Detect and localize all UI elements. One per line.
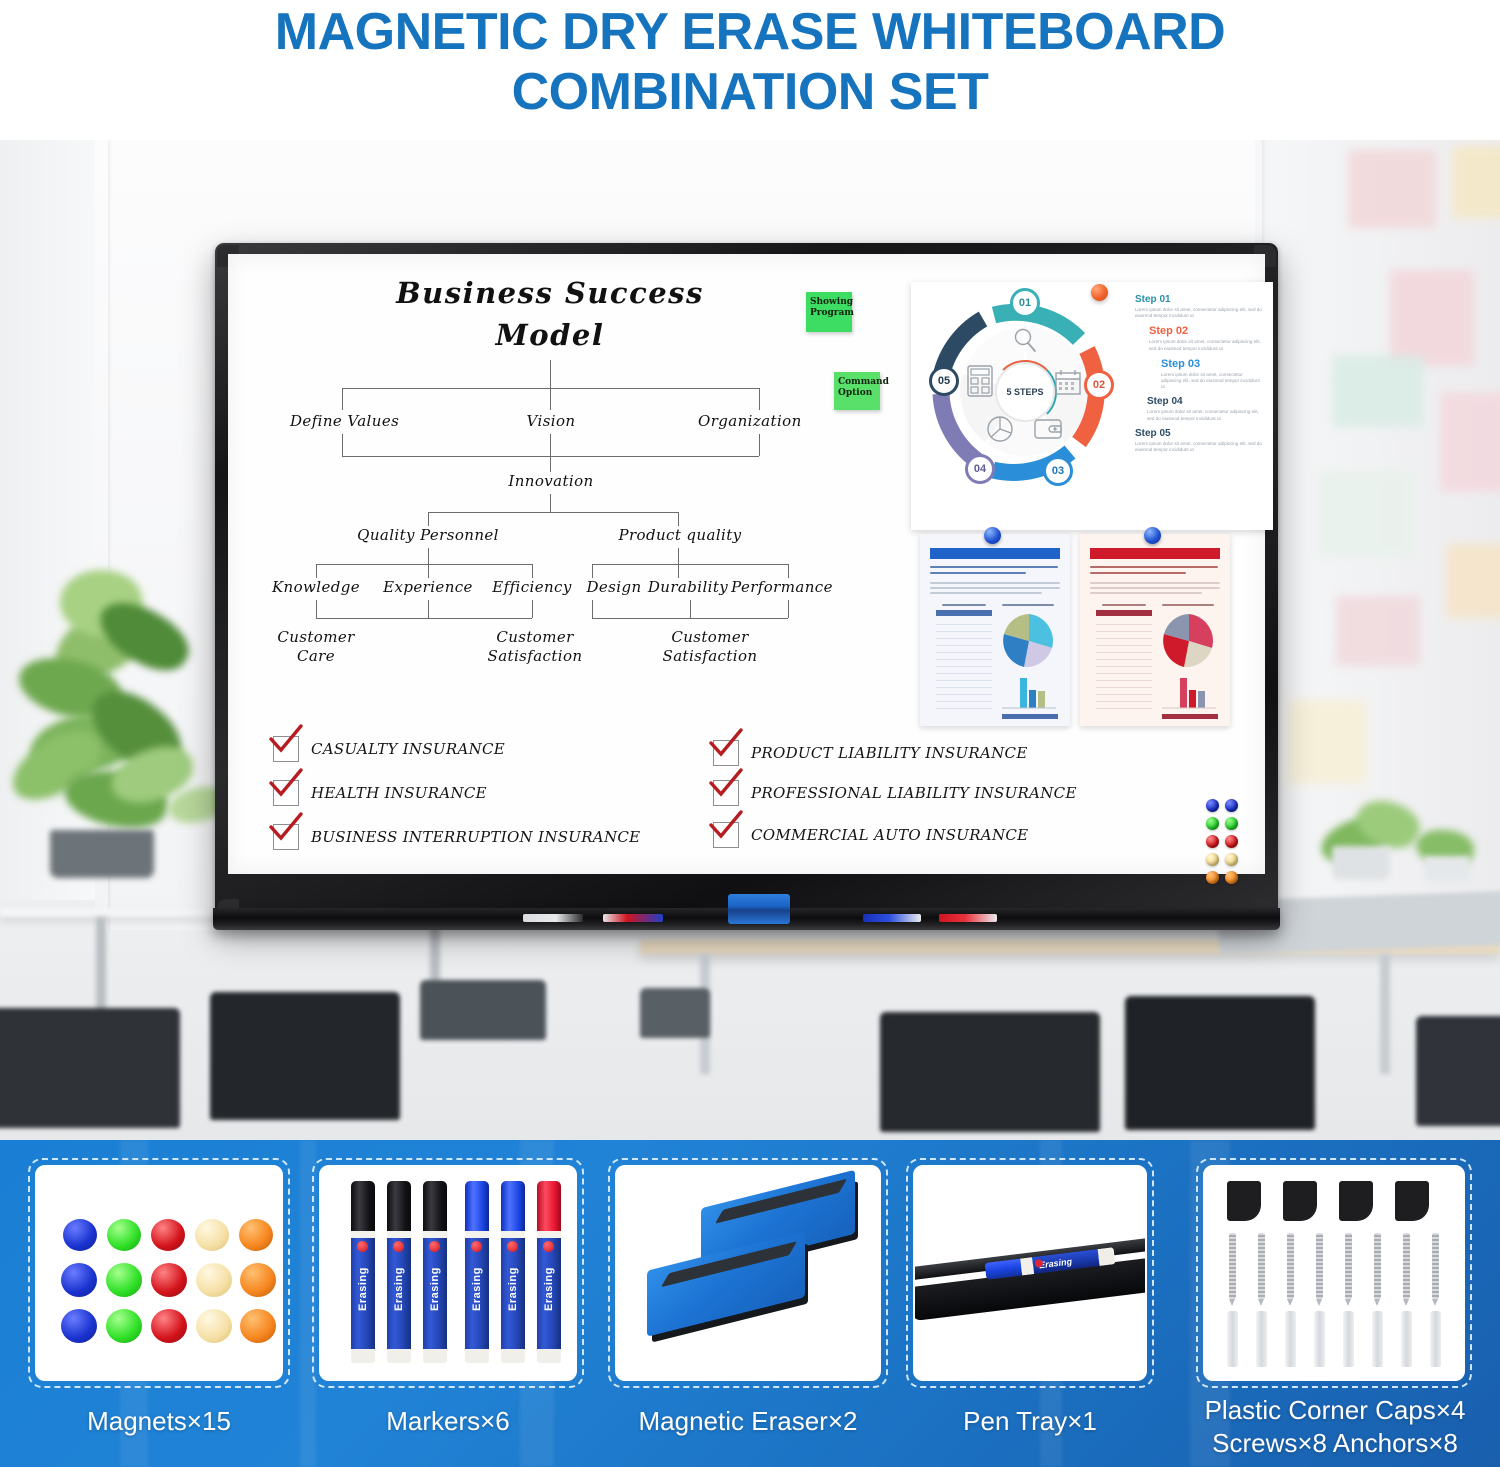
magnet-orange	[239, 1219, 273, 1251]
label-hardware-line2: Screws×8 Anchors×8	[1180, 1427, 1490, 1460]
pie-chart	[1000, 612, 1058, 670]
node-customer-care-line2: Care	[297, 647, 335, 665]
five-steps-infographic-poster[interactable]: 01 02 03 04 05 5 STEPS	[911, 282, 1273, 530]
node-efficiency: Efficiency	[492, 578, 571, 596]
marker-red: Erasing	[537, 1181, 561, 1363]
connector-line	[759, 388, 760, 410]
wall-anchor	[1227, 1311, 1238, 1367]
tray-marker[interactable]	[863, 914, 921, 922]
node-performance: Performance	[731, 578, 833, 596]
node-customer-care-line1: Customer	[277, 628, 354, 646]
insurance-checklist: CASUALTY INSURANCE HEALTH INSURANCE BUSI…	[273, 736, 1113, 866]
marker-brand-text: Erasing	[387, 1259, 411, 1319]
connector-line	[316, 564, 317, 578]
magnet-blue[interactable]	[1225, 799, 1238, 812]
step-bubble-04: 04	[965, 454, 995, 484]
step-heading: Step 04	[1147, 396, 1263, 407]
magnet-orange	[240, 1309, 276, 1343]
connector-line	[428, 564, 429, 578]
step-body: Lorem ipsum dolor sit amet, consectetur …	[1147, 409, 1263, 421]
step-body: Lorem ipsum dolor sit amet, consectetur …	[1135, 307, 1263, 319]
office-chair	[640, 988, 710, 1038]
marker-brand-text: Erasing	[501, 1259, 525, 1319]
wall-anchor	[1401, 1311, 1412, 1367]
plant-pot	[1424, 856, 1470, 882]
bar-chart	[1160, 676, 1218, 712]
title-line-1: MAGNETIC DRY ERASE WHITEBOARD	[275, 2, 1225, 62]
connector-line	[678, 512, 679, 526]
office-chair	[880, 1012, 1100, 1132]
node-durability: Durability	[648, 578, 728, 596]
wall-anchor	[1430, 1311, 1441, 1367]
accessory-card-hardware[interactable]	[1196, 1158, 1472, 1388]
checkbox	[713, 740, 739, 766]
screw	[1432, 1233, 1439, 1299]
magnets-image	[35, 1165, 283, 1381]
sticky-line-2: Option	[838, 388, 872, 398]
table-body	[1096, 618, 1152, 718]
wall-anchor	[1314, 1311, 1325, 1367]
step-body: Lorem ipsum dolor sit amet, consectetur …	[1149, 339, 1263, 351]
magnet-green[interactable]	[1206, 817, 1219, 830]
corner-cap	[1339, 1181, 1373, 1221]
connector-line	[342, 434, 343, 456]
sheet-text-line	[930, 592, 1042, 594]
node-vision: Vision	[527, 412, 576, 430]
checklist-item[interactable]: CASUALTY INSURANCE	[273, 736, 505, 762]
magnet-red	[151, 1309, 187, 1343]
marker-black: Erasing	[387, 1181, 411, 1363]
sticky-note-command-option[interactable]: Command Option	[834, 372, 880, 410]
report-sheet-red[interactable]	[1080, 534, 1230, 726]
node-define-values: Define Values	[290, 412, 399, 430]
marker-brand-text: Erasing	[465, 1259, 489, 1319]
wall-sticky-note	[1348, 150, 1436, 228]
sheet-text-line	[1090, 592, 1202, 594]
sheet-text-line	[1090, 587, 1220, 589]
magnet-green	[107, 1219, 141, 1251]
step-entry: Step 04 Lorem ipsum dolor sit amet, cons…	[1135, 396, 1263, 421]
sheet-text-line	[1090, 582, 1220, 584]
screw-tip	[1345, 1299, 1351, 1306]
eraser-image	[615, 1165, 881, 1381]
office-chair	[1416, 1016, 1500, 1126]
connector-line	[428, 600, 429, 618]
sheet-text-line	[930, 566, 1058, 568]
magnet-blue	[61, 1309, 97, 1343]
pen-tray-image: Erasing	[913, 1165, 1147, 1381]
screw-tip	[1403, 1299, 1409, 1306]
checklist-label: COMMERCIAL AUTO INSURANCE	[751, 826, 1028, 844]
step-bubble-01: 01	[1010, 288, 1040, 318]
connector-line	[788, 600, 789, 618]
screw	[1258, 1233, 1265, 1299]
corner-cap	[1283, 1181, 1317, 1221]
node-customer-satisfaction-line2: Satisfaction	[663, 647, 758, 665]
wall-sticky-note	[1288, 700, 1366, 784]
connector-line	[759, 434, 760, 456]
wall-anchor	[1256, 1311, 1267, 1367]
checklist-label: HEALTH INSURANCE	[311, 784, 487, 802]
node-customer-satisfaction-line2: Satisfaction	[488, 647, 583, 665]
footer-table	[1162, 714, 1218, 719]
connector-line	[678, 548, 679, 564]
magnet-blue	[61, 1263, 97, 1297]
office-chair	[420, 980, 546, 1040]
wall-sticky-note	[1318, 470, 1414, 558]
whiteboard-frame: Business Success Model Define Values Vis…	[215, 243, 1278, 923]
node-innovation: Innovation	[508, 472, 593, 490]
connector-line	[592, 564, 593, 578]
page-title: MAGNETIC DRY ERASE WHITEBOARD COMBINATIO…	[0, 0, 1500, 145]
screw	[1287, 1233, 1294, 1299]
tray-marker[interactable]	[603, 914, 663, 922]
chart-title	[1162, 604, 1214, 606]
checklist-item[interactable]: COMMERCIAL AUTO INSURANCE	[713, 822, 1028, 848]
check-icon	[708, 768, 744, 798]
magnet-red[interactable]	[1206, 835, 1219, 848]
connector-line	[342, 388, 343, 410]
plant-pot	[50, 830, 154, 878]
office-chair	[0, 1008, 180, 1128]
sheet-text-line	[930, 572, 1026, 574]
screw-tip	[1287, 1299, 1293, 1306]
diagram-title-line1: Business Success	[270, 276, 830, 310]
pin-magnet	[1144, 527, 1161, 544]
bar-chart	[1000, 676, 1058, 712]
screw-tip	[1432, 1299, 1438, 1306]
checkbox	[273, 780, 299, 806]
connector-line	[532, 600, 533, 618]
pin-magnet	[984, 527, 1001, 544]
label-magnets: Magnets×15	[28, 1406, 290, 1437]
magnet-yellow	[195, 1219, 229, 1251]
checklist-item[interactable]: HEALTH INSURANCE	[273, 780, 487, 806]
magnet-orange[interactable]	[1206, 871, 1219, 884]
wall-sticky-note	[1390, 270, 1474, 366]
label-hardware-line1: Plastic Corner Caps×4	[1180, 1394, 1490, 1427]
business-success-model-diagram: Business Success Model Define Values Vis…	[270, 276, 830, 696]
magnifier-icon	[1011, 326, 1039, 354]
sticky-line-1: Command	[838, 377, 889, 387]
step-bubble-05: 05	[929, 366, 959, 396]
checkbox	[713, 822, 739, 848]
hardware-image	[1203, 1165, 1465, 1381]
node-design: Design	[586, 578, 641, 596]
wallet-icon	[1033, 416, 1063, 442]
marker-blue: Erasing	[465, 1181, 489, 1363]
process-wheel: 01 02 03 04 05 5 STEPS	[927, 294, 1123, 490]
connector-line	[428, 512, 429, 526]
label-eraser: Magnetic Eraser×2	[608, 1406, 888, 1437]
marker-black: Erasing	[423, 1181, 447, 1363]
piechart-icon	[985, 414, 1015, 444]
connector-line	[550, 388, 551, 410]
plant-pot	[1332, 846, 1390, 880]
connector-line	[550, 494, 551, 512]
node-customer-satisfaction-line1: Customer	[496, 628, 573, 646]
report-sheet-blue[interactable]	[920, 534, 1070, 726]
wall-sticky-note	[1336, 596, 1420, 666]
footer-table	[1002, 714, 1058, 719]
whiteboard-pen-tray[interactable]	[213, 908, 1280, 930]
chart-title	[1002, 604, 1054, 606]
marker-black: Erasing	[351, 1181, 375, 1363]
sheet-header-bar	[930, 548, 1060, 559]
magnet-red	[151, 1219, 185, 1251]
accessory-card-markers[interactable]: Erasing Erasing Erasing	[312, 1158, 584, 1388]
marker-brand-text: Erasing	[537, 1259, 561, 1319]
step-entry: Step 02 Lorem ipsum dolor sit amet, cons…	[1135, 325, 1263, 351]
node-experience: Experience	[383, 578, 473, 596]
table-header-row	[936, 610, 992, 616]
marker-brand-text: Erasing	[423, 1259, 447, 1319]
diagram-title-line2: Model	[270, 318, 830, 352]
wall-sticky-note	[1452, 146, 1500, 218]
connector-line	[678, 564, 679, 578]
wall-anchor	[1343, 1311, 1354, 1367]
table-body	[936, 618, 992, 718]
wall-sticky-note	[1440, 392, 1500, 492]
step-body: Lorem ipsum dolor sit amet, consectetur …	[1161, 372, 1263, 391]
check-icon	[708, 728, 744, 758]
step-bubble-02: 02	[1084, 370, 1114, 400]
title-line-2: COMBINATION SET	[512, 62, 989, 122]
connector-line	[316, 564, 532, 565]
checklist-item[interactable]: BUSINESS INTERRUPTION INSURANCE	[273, 824, 640, 850]
office-chair	[1125, 996, 1315, 1130]
sheet-text-line	[1090, 566, 1218, 568]
connector-line	[550, 434, 551, 472]
node-organization: Organization	[698, 412, 802, 430]
connector-line	[550, 360, 551, 388]
step-heading: Step 01	[1135, 294, 1263, 305]
checklist-label: PROFESSIONAL LIABILITY INSURANCE	[751, 784, 1077, 802]
connector-line	[428, 548, 429, 564]
label-markers: Markers×6	[312, 1406, 584, 1437]
check-icon	[268, 768, 304, 798]
table-title	[1102, 604, 1146, 606]
hub-label: 5 STEPS	[995, 362, 1055, 422]
wall-sticky-note	[1446, 544, 1500, 618]
label-pen-tray: Pen Tray×1	[906, 1406, 1154, 1437]
accessory-card-pen-tray[interactable]: Erasing	[906, 1158, 1154, 1388]
sticky-line-1: Showing	[810, 297, 853, 307]
screw-tip	[1229, 1299, 1235, 1306]
wall-sticky-note	[1332, 355, 1424, 427]
screw-tip	[1258, 1299, 1264, 1306]
marker-brand-text: Erasing	[351, 1259, 375, 1319]
node-knowledge: Knowledge	[272, 578, 360, 596]
wall-anchor	[1372, 1311, 1383, 1367]
screw	[1345, 1233, 1352, 1299]
node-quality-personnel: Quality Personnel	[357, 526, 499, 544]
pie-chart	[1160, 612, 1218, 670]
wall-anchor	[1285, 1311, 1296, 1367]
checkbox	[273, 736, 299, 762]
corner-cap	[1227, 1181, 1261, 1221]
calculator-icon	[965, 364, 995, 398]
step-body: Lorem ipsum dolor sit amet, consectetur …	[1135, 441, 1263, 453]
step-entry: Step 01 Lorem ipsum dolor sit amet, cons…	[1135, 294, 1263, 319]
checklist-item[interactable]: PRODUCT LIABILITY INSURANCE	[713, 740, 1028, 766]
connector-line	[316, 618, 532, 619]
connector-line	[592, 564, 788, 565]
magnet-blue[interactable]	[1206, 799, 1219, 812]
sticky-line-2: Program	[810, 308, 854, 318]
sheet-text-line	[930, 587, 1060, 589]
screw	[1229, 1233, 1236, 1299]
table-header-row	[1096, 610, 1152, 616]
calendar-icon	[1053, 368, 1083, 398]
magnet-orange[interactable]	[1225, 871, 1238, 884]
checkbox	[273, 824, 299, 850]
connector-line	[592, 600, 593, 618]
magnet-blue	[63, 1219, 97, 1251]
accessory-card-row: Magnets×15 Erasing Erasing	[0, 1158, 1500, 1388]
magnet-yellow	[196, 1309, 232, 1343]
checklist-label: CASUALTY INSURANCE	[311, 740, 505, 758]
magnet-yellow[interactable]	[1206, 853, 1219, 866]
sticky-note-showing-program[interactable]: Showing Program	[806, 292, 852, 332]
step-entry: Step 05 Lorem ipsum dolor sit amet, cons…	[1135, 428, 1263, 453]
markers-image: Erasing Erasing Erasing	[319, 1165, 577, 1381]
steps-text-column: Step 01 Lorem ipsum dolor sit amet, cons…	[1135, 294, 1263, 459]
magnet-yellow[interactable]	[1225, 853, 1238, 866]
magnet-red[interactable]	[1225, 835, 1238, 848]
screw-tip	[1374, 1299, 1380, 1306]
connector-line	[428, 512, 678, 513]
node-customer-satisfaction-line1: Customer	[671, 628, 748, 646]
check-icon	[268, 812, 304, 842]
connector-line	[788, 564, 789, 578]
screw	[1374, 1233, 1381, 1299]
board-magnet-strip[interactable]	[1206, 799, 1242, 885]
checkbox	[713, 780, 739, 806]
check-icon	[268, 724, 304, 754]
tray-eraser[interactable]	[728, 894, 790, 924]
step-heading: Step 05	[1135, 428, 1263, 439]
step-bubble-03: 03	[1043, 456, 1073, 486]
connector-line	[316, 600, 317, 618]
tray-marker[interactable]	[939, 914, 997, 922]
sheet-text-line	[1090, 572, 1186, 574]
accessories-banner: Magnets×15 Erasing Erasing	[0, 1140, 1500, 1467]
tray-marker[interactable]	[523, 914, 583, 922]
connector-line	[532, 564, 533, 578]
magnet-green	[106, 1263, 142, 1297]
checklist-item[interactable]: PROFESSIONAL LIABILITY INSURANCE	[713, 780, 1077, 806]
magnet-red	[151, 1263, 187, 1297]
magnet-green[interactable]	[1225, 817, 1238, 830]
step-heading: Step 02	[1149, 325, 1263, 337]
corner-cap	[1395, 1181, 1429, 1221]
sheet-header-bar	[1090, 548, 1220, 559]
accessory-card-magnets[interactable]	[28, 1158, 290, 1388]
magnet-yellow	[196, 1263, 232, 1297]
screw	[1403, 1233, 1410, 1299]
desk-leg	[1380, 954, 1390, 1074]
marker-blue: Erasing	[501, 1181, 525, 1363]
magnet-orange	[240, 1263, 276, 1297]
sheet-text-line	[930, 582, 1060, 584]
step-entry: Step 03 Lorem ipsum dolor sit amet, cons…	[1135, 358, 1263, 391]
magnet-green	[106, 1309, 142, 1343]
accessory-card-eraser[interactable]	[608, 1158, 888, 1388]
checklist-label: PRODUCT LIABILITY INSURANCE	[751, 744, 1028, 762]
connector-line	[690, 600, 691, 618]
step-heading: Step 03	[1161, 358, 1263, 370]
checklist-label: BUSINESS INTERRUPTION INSURANCE	[311, 828, 640, 846]
screw-tip	[1316, 1299, 1322, 1306]
node-product-quality: Product quality	[618, 526, 741, 544]
screw	[1316, 1233, 1323, 1299]
connector-line	[592, 618, 788, 619]
office-chair	[210, 992, 400, 1120]
whiteboard-surface[interactable]: Business Success Model Define Values Vis…	[228, 254, 1265, 874]
check-icon	[708, 810, 744, 840]
table-title	[942, 604, 986, 606]
